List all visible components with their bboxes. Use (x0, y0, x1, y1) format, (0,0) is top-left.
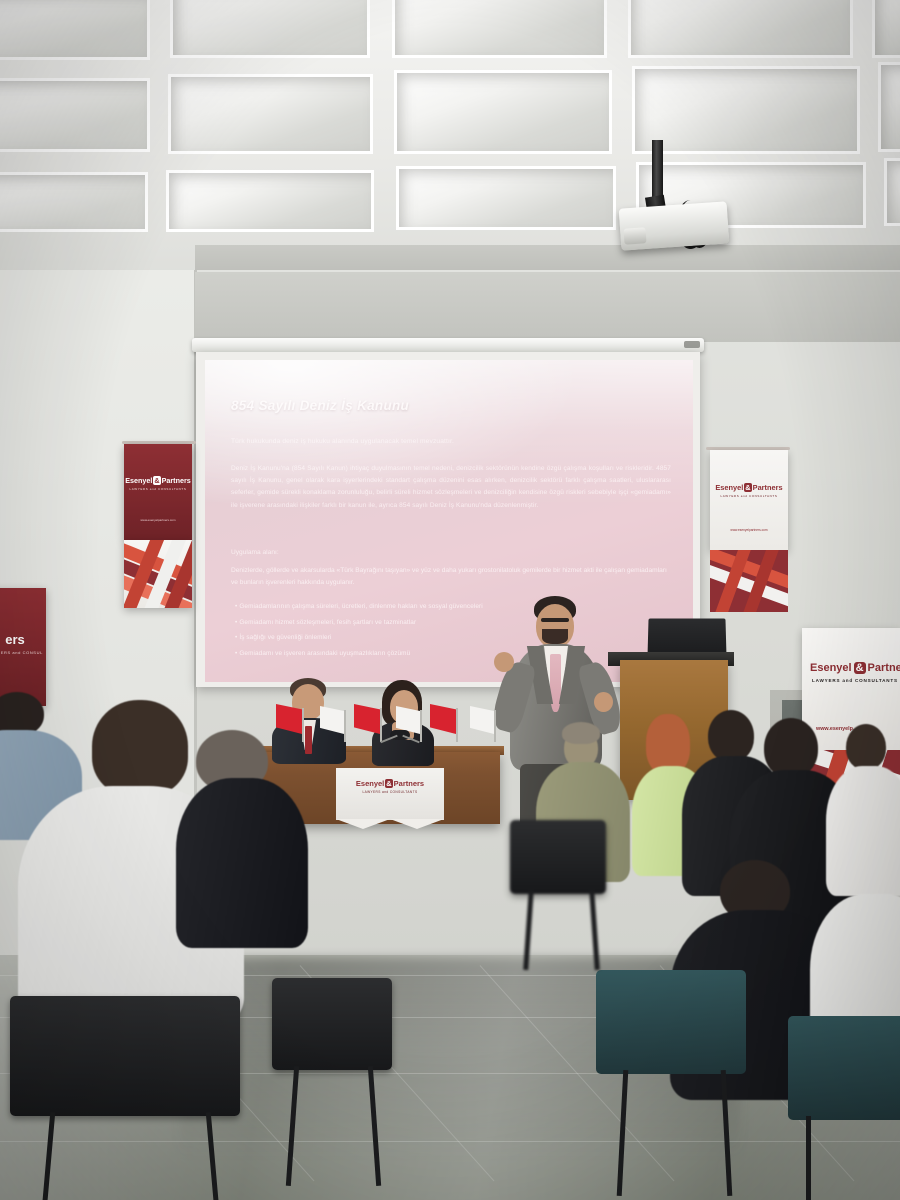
banner-wordmark-second: Partners (162, 476, 191, 485)
slide-title: 854 Sayılı Deniz İş Kanunu (231, 398, 409, 413)
banner-left-edge: ers LAWYERS and CONSUL (0, 588, 46, 706)
speaker-left-hand (494, 652, 514, 672)
banner-wordmark: Esenyel (356, 779, 384, 788)
banner-wordmark: Esenyel (125, 476, 152, 485)
slide-paragraph: Deniz İş Kanunu'na (854 Sayılı Kanun) ih… (231, 463, 671, 512)
slide-application-label: Uygulama alanı: (231, 549, 279, 556)
speaker-glasses-icon (541, 618, 569, 622)
banner-tagline: LAWYERS and CONSULTANTS (812, 678, 898, 683)
banner-wordmark-second: Partners (394, 779, 424, 788)
banner-tagline: LAWYERS and CONSULTANTS (336, 790, 444, 794)
banner-wordmark: Esenyel (810, 662, 852, 674)
slide-subtitle: Türk hukukunda deniz iş hukuku alanında … (231, 438, 661, 445)
screen-roller-case[interactable] (192, 338, 704, 352)
banner-tagline-partial: LAWYERS and CONSUL (0, 650, 46, 655)
banner-ampersand-icon: & (153, 476, 160, 485)
company-flag (320, 706, 344, 734)
banner-wordmark-second: Partners (868, 662, 900, 674)
banner-right-wall-weave (710, 550, 788, 612)
projector-lens-icon (623, 227, 646, 244)
microphone (378, 730, 420, 748)
banner-tagline: LAWYERS and CONSULTANTS (710, 494, 788, 498)
banner-tagline: LAWYERS and CONSULTANTS (124, 487, 192, 491)
banner-ampersand-icon: & (744, 483, 751, 492)
banner-right-wall: Esenyel&Partners LAWYERS and CONSULTANTS… (710, 450, 788, 550)
banner-url: www.esenyelpartners.com (710, 528, 788, 532)
slide-application-body: Denizlerde, göllerde ve akarsularda «Tür… (231, 565, 671, 589)
chair-row-foreground[interactable] (0, 960, 900, 1200)
presentation-slide: 854 Sayılı Deniz İş Kanunu Türk hukukund… (205, 360, 693, 682)
chair-row-mid[interactable] (500, 820, 700, 970)
banner-wordmark-partial: ers (0, 632, 46, 647)
wall-upper-band (195, 272, 900, 342)
coffered-ceiling (0, 0, 900, 275)
turkish-flag (354, 704, 380, 734)
banner-wordmark-second: Partners (753, 483, 783, 492)
company-flag (470, 706, 494, 734)
banner-ampersand-icon: & (854, 662, 866, 674)
banner-url: www.esenyelpartners.com (124, 518, 192, 522)
turkish-flag (430, 704, 456, 734)
banner-left-wall-weave (124, 540, 192, 608)
table-skirt-banner: Esenyel&Partners LAWYERS and CONSULTANTS (336, 768, 444, 820)
speaker-beard (542, 629, 568, 644)
banner-ampersand-icon: & (385, 779, 392, 788)
banner-left-wall: Esenyel&Partners LAWYERS and CONSULTANTS… (124, 444, 192, 540)
conference-photo-scene: 854 Sayılı Deniz İş Kanunu Türk hukukund… (0, 0, 900, 1200)
banner-wordmark: Esenyel (715, 483, 743, 492)
